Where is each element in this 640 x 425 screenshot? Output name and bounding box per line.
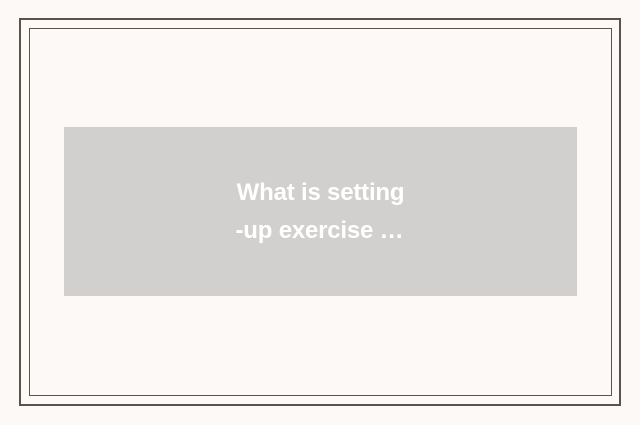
placeholder-text-line-2: -up exercise … [236, 212, 404, 250]
media-placeholder-panel[interactable]: What is setting -up exercise … [64, 127, 577, 296]
placeholder-text-line-1: What is setting [237, 174, 405, 212]
slide-canvas: What is setting -up exercise … [0, 0, 640, 425]
